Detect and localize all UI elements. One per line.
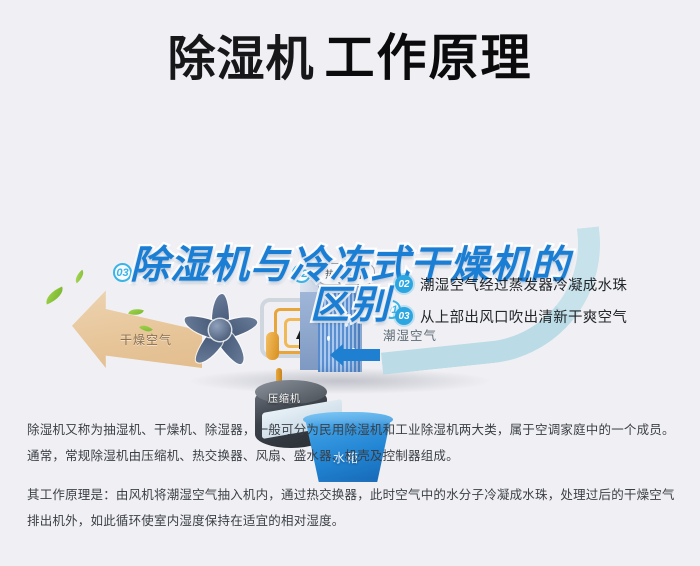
badge-02-icon: 02 (292, 264, 311, 283)
callout-pointer-icon (338, 282, 348, 294)
fan-hub (209, 319, 231, 341)
step-badge-icon: 02 (395, 275, 413, 293)
compressor-label: 压缩机 (268, 390, 301, 405)
body-paragraph-2: 其工作原理是：由风机将潮湿空气抽入机内，通过热交换器，此时空气中的水分子冷凝成水… (27, 483, 677, 534)
water-droplet-icon (327, 336, 330, 341)
leaf-icon (72, 270, 86, 284)
step-item: 03 从上部出风口吹出清新干爽空气 (395, 300, 695, 332)
dehumidifier-diagram: 潮湿空气 01 干燥空气 03 (0, 118, 700, 396)
page-title-part1: 除湿机 (167, 33, 314, 86)
water-droplet-icon (333, 304, 336, 309)
step-badge-icon: 03 (395, 307, 413, 325)
step-item: 02 潮湿空气经过蒸发器冷凝成水珠 (395, 268, 695, 300)
step-text: 潮湿空气经过蒸发器冷凝成水珠 (420, 274, 627, 295)
step-text: 从上部出风口吹出清新干爽空气 (420, 306, 627, 327)
air-intake-arrow-head-icon (330, 344, 343, 366)
water-droplet-icon (345, 322, 348, 327)
evaporator-side-panel (300, 292, 320, 370)
poster-page: 除湿机工作原理 潮湿空气 01 干燥空气 03 (0, 0, 700, 566)
dry-air-label: 干燥空气 (120, 331, 172, 348)
badge-03-icon: 03 (113, 263, 132, 282)
page-title: 除湿机工作原理 (0, 18, 700, 90)
fan-icon (178, 288, 262, 372)
body-text: 除湿机又称为抽湿机、干燥机、除湿器，一般可分为民用除湿机和工业除湿机两大类，属于… (27, 418, 677, 535)
step-list: 02 潮湿空气经过蒸发器冷凝成水珠 03 从上部出风口吹出清新干爽空气 (395, 268, 695, 332)
page-title-part2: 工作原理 (325, 30, 533, 86)
receiver-tank-icon (266, 332, 279, 360)
body-paragraph-1: 除湿机又称为抽湿机、干燥机、除湿器，一般可分为民用除湿机和工业除湿机两大类，属于… (27, 418, 677, 469)
leaf-icon (43, 286, 67, 304)
air-intake-arrow-icon (340, 349, 380, 361)
